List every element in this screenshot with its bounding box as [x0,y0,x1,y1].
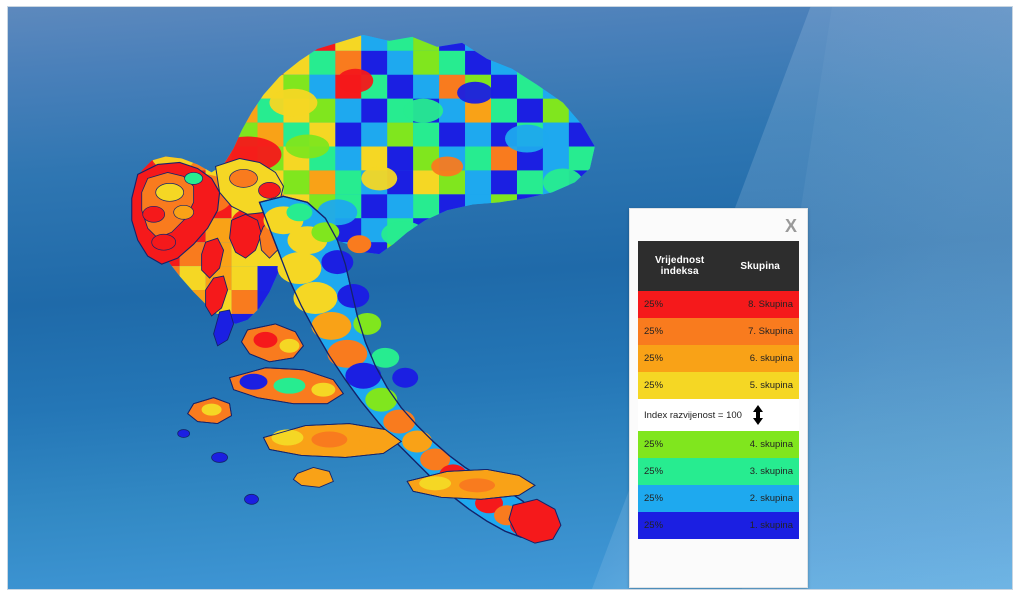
legend-row-group: 8. Skupina [721,291,799,318]
legend-row-group: 1. skupina [721,512,799,539]
legend-row-3[interactable]: 25% 3. skupina [638,458,799,485]
legend-row-2[interactable]: 25% 2. skupina [638,485,799,512]
legend-row-value: 25% [638,291,721,318]
legend-table-head: Vrijednost indeksa Skupina [638,241,799,291]
croatia-map-svg[interactable] [8,7,1012,589]
legend-row-group: 6. skupina [721,345,799,372]
legend-row-group: 3. skupina [721,458,799,485]
legend-panel[interactable]: X Vrijednost indeksa Skupina 25% 8 [629,208,808,588]
legend-row-value: 25% [638,485,721,512]
up-down-arrow-icon [752,405,764,425]
legend-row-value: 25% [638,512,721,539]
legend-row-6[interactable]: 25% 6. skupina [638,345,799,372]
legend-row-value: 25% [638,458,721,485]
legend-header-row: Vrijednost indeksa Skupina [638,241,799,291]
legend-row-7[interactable]: 25% 7. Skupina [638,318,799,345]
legend-row-group: 7. Skupina [721,318,799,345]
legend-row-value: 25% [638,318,721,345]
legend-row-8[interactable]: 25% 8. Skupina [638,291,799,318]
legend-titlebar: X [638,215,799,241]
close-x-icon[interactable]: X [785,217,797,235]
legend-separator-row: Index razvijenost = 100 [638,399,799,431]
legend-row-group: 5. skupina [721,372,799,399]
legend-separator-cell: Index razvijenost = 100 [638,399,799,431]
legend-row-value: 25% [638,372,721,399]
legend-row-value: 25% [638,431,721,458]
legend-header-value: Vrijednost indeksa [638,241,721,291]
legend-header-group: Skupina [721,241,799,291]
legend-row-4[interactable]: 25% 4. skupina [638,431,799,458]
legend-table: Vrijednost indeksa Skupina 25% 8. Skupin… [638,241,799,539]
croatia-map[interactable] [8,7,1012,589]
legend-header-value-line2: indeksa [661,266,699,277]
screenshot-root: X Vrijednost indeksa Skupina 25% 8 [0,0,1020,596]
image-frame: X Vrijednost indeksa Skupina 25% 8 [7,6,1013,590]
legend-row-5[interactable]: 25% 5. skupina [638,372,799,399]
legend-row-group: 4. skupina [721,431,799,458]
legend-separator-label: Index razvijenost = 100 [644,410,742,421]
legend-table-body: 25% 8. Skupina 25% 7. Skupina 25% 6. sku… [638,291,799,539]
legend-header-value-line1: Vrijednost [655,255,704,266]
legend-row-value: 25% [638,345,721,372]
legend-row-group: 2. skupina [721,485,799,512]
legend-row-1[interactable]: 25% 1. skupina [638,512,799,539]
map-region-dubrovnik [509,499,561,543]
